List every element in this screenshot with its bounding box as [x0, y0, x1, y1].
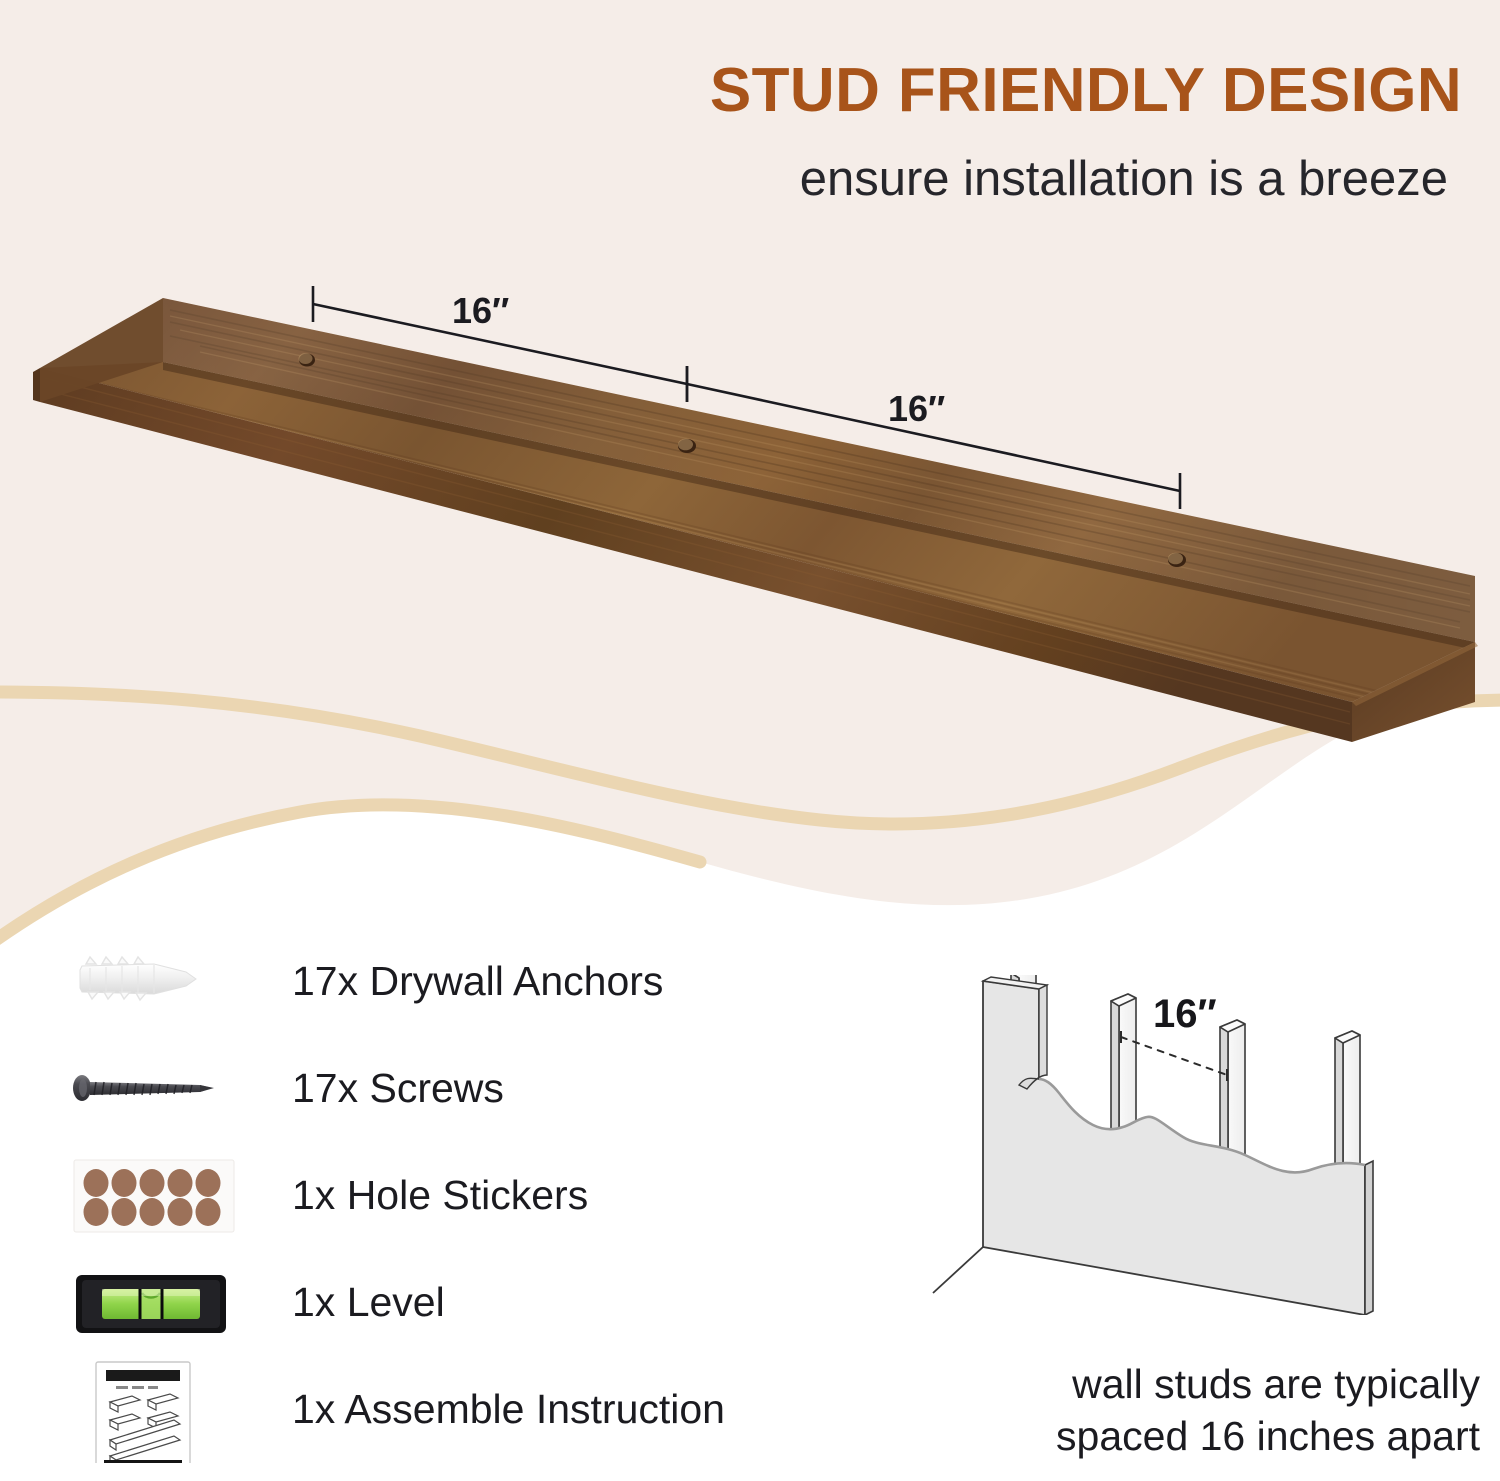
- hole-stickers-icon: [60, 1142, 260, 1249]
- product-shelf-illustration: [0, 250, 1500, 750]
- dimension-label-left: 16″: [452, 290, 509, 332]
- caption-line-2: spaced 16 inches apart: [900, 1410, 1480, 1462]
- part-row-instruction: 1x Assemble Instruction: [60, 1356, 880, 1463]
- part-row-screws: 17x Screws: [60, 1035, 880, 1142]
- part-label: 1x Hole Stickers: [292, 1142, 588, 1249]
- page-title: STUD FRIENDLY DESIGN: [0, 58, 1462, 124]
- level-tool-icon: [60, 1249, 260, 1356]
- stud-spacing-label: 16″: [1153, 992, 1217, 1036]
- shelf-inner-shadow: [163, 362, 1475, 650]
- part-row-level: 1x Level: [60, 1249, 880, 1356]
- stud: [1335, 1031, 1360, 1178]
- drywall-anchor-icon: [60, 928, 260, 1035]
- stud-spacing-measure: [1121, 1031, 1227, 1081]
- stud-diagram-caption: wall studs are typically spaced 16 inche…: [900, 1358, 1480, 1463]
- part-label: 17x Screws: [292, 1035, 504, 1142]
- part-label: 17x Drywall Anchors: [292, 928, 663, 1035]
- part-label: 1x Assemble Instruction: [292, 1356, 725, 1463]
- part-row-hole-stickers: 1x Hole Stickers: [60, 1142, 880, 1249]
- page-subtitle: ensure installation is a breeze: [0, 152, 1448, 207]
- screw-icon: [60, 1035, 260, 1142]
- wall-stud-diagram: 16″: [915, 975, 1435, 1315]
- shelf-left-edge: [33, 368, 40, 402]
- dimension-label-right: 16″: [888, 388, 945, 430]
- caption-line-1: wall studs are typically: [900, 1358, 1480, 1410]
- instruction-manual-icon: [60, 1356, 260, 1463]
- infographic-page: STUD FRIENDLY DESIGN ensure installation…: [0, 0, 1500, 1481]
- part-row-drywall-anchors: 17x Drywall Anchors: [60, 928, 880, 1035]
- part-label: 1x Level: [292, 1249, 445, 1356]
- parts-list: 17x Drywall Anchors: [60, 928, 880, 1463]
